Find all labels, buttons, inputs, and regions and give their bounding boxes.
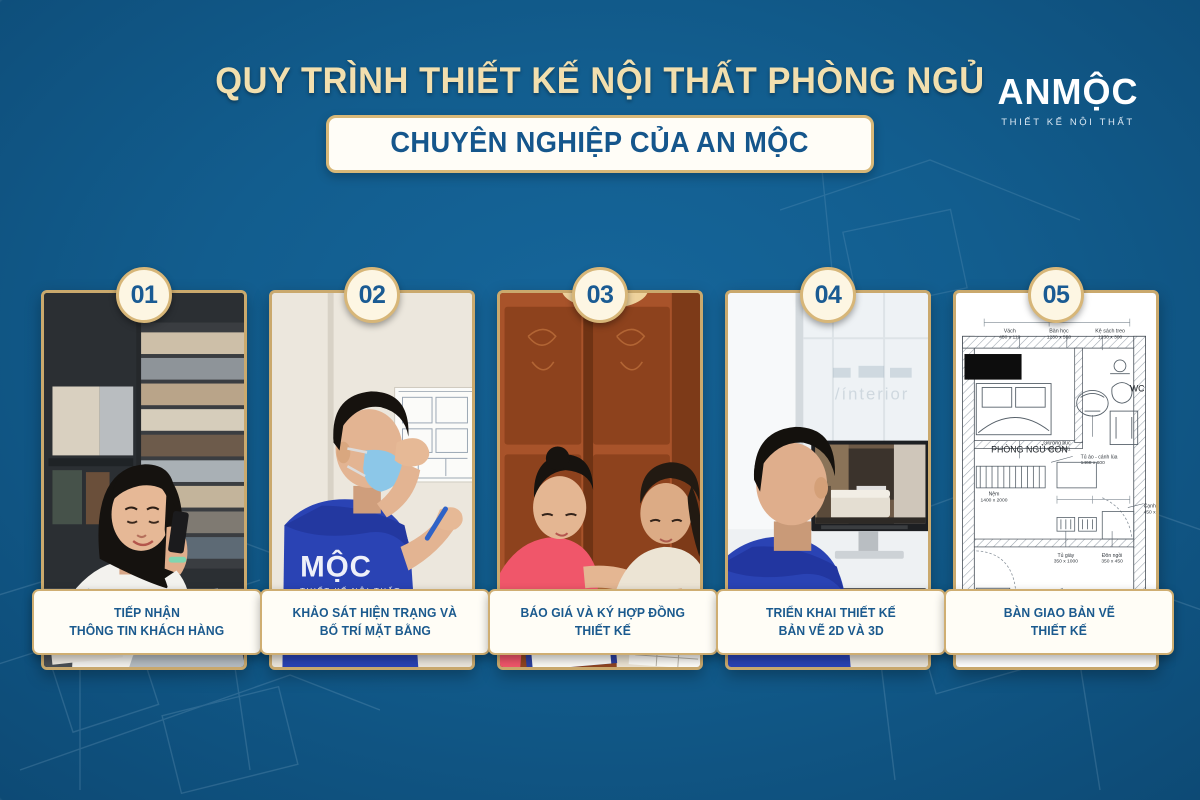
svg-text:1230 x 550: 1230 x 550 (1047, 334, 1072, 340)
logo-tagline: THIẾT KẾ NỘI THẤT (978, 117, 1158, 128)
caption-line-2: BẢN VẼ 2D VÀ 3D (778, 622, 883, 640)
step-card-03[interactable]: 03 BÁO GIÁ VÀ KÝ HỢP ĐỒNG THIẾT KẾ (497, 290, 703, 670)
caption-line-1: TRIỂN KHAI THIẾT KẾ (766, 604, 896, 622)
step-card-05[interactable]: Vách 450 x 110 Bàn học 1230 x 550 Kệ sác… (953, 290, 1159, 670)
svg-text:Đôn ngồi: Đôn ngồi (1102, 553, 1122, 559)
step-caption-03: BÁO GIÁ VÀ KÝ HỢP ĐỒNG THIẾT KẾ (488, 589, 718, 655)
step-caption-05: BÀN GIAO BẢN VẼ THIẾT KẾ (944, 589, 1174, 655)
step-number-05: 05 (1043, 281, 1070, 310)
step-card-04[interactable]: /ínterior (725, 290, 931, 670)
svg-text:Nệm: Nệm (989, 492, 1000, 498)
svg-text:Kệ sách treo: Kệ sách treo (1095, 328, 1125, 334)
svg-text:Vách: Vách (1004, 328, 1016, 334)
step-number-01: 01 (131, 281, 158, 310)
step-caption-01: TIẾP NHẬN THÔNG TIN KHÁCH HÀNG (32, 589, 262, 655)
svg-text:MỘC: MỘC (300, 549, 372, 583)
svg-text:1468 x 2781: 1468 x 2781 (1043, 446, 1070, 452)
svg-text:Cạnh: Cạnh (1144, 504, 1156, 510)
step-number-badge-02: 02 (344, 267, 400, 323)
svg-text:Tủ giày: Tủ giày (1057, 552, 1074, 559)
caption-line-2: THIẾT KẾ (575, 622, 631, 640)
svg-text:450 x 135: 450 x 135 (1144, 509, 1156, 515)
svg-text:/ínterior: /ínterior (835, 384, 909, 403)
step-number-badge-04: 04 (800, 267, 856, 323)
svg-text:1400 x 2000: 1400 x 2000 (980, 498, 1007, 504)
caption-line-1: BÀN GIAO BẢN VẼ (1003, 604, 1114, 622)
caption-line-2: BỐ TRÍ MẶT BẰNG (319, 622, 430, 640)
infographic-canvas: QUY TRÌNH THIẾT KẾ NỘI THẤT PHÒNG NGỦ CH… (0, 0, 1200, 800)
caption-line-1: BÁO GIÁ VÀ KÝ HỢP ĐỒNG (521, 604, 686, 622)
process-steps-row: 01 TIẾP NHẬN THÔNG TIN KHÁCH HÀNG (0, 290, 1200, 670)
caption-line-2: THÔNG TIN KHÁCH HÀNG (70, 622, 225, 640)
caption-line-2: THIẾT KẾ (1031, 622, 1087, 640)
svg-text:WC: WC (1130, 383, 1145, 393)
step-caption-02: KHẢO SÁT HIỆN TRẠNG VÀ BỐ TRÍ MẶT BẰNG (260, 589, 490, 655)
caption-line-1: TIẾP NHẬN (114, 604, 180, 622)
step-card-02[interactable]: MỘC THIẾT KẾ NỘI THẤT 02 KHẢO SÁT HIỆN T… (269, 290, 475, 670)
svg-text:Bàn học: Bàn học (1049, 328, 1069, 334)
brand-logo: ANMỘC THIẾT KẾ NỘI THẤT (978, 74, 1158, 128)
step-card-01[interactable]: 01 TIẾP NHẬN THÔNG TIN KHÁCH HÀNG (41, 290, 247, 670)
subtitle-box: CHUYÊN NGHIỆP CỦA AN MỘC (326, 115, 874, 173)
svg-text:1468 x 600: 1468 x 600 (1081, 460, 1106, 466)
svg-text:Giường bục: Giường bục (1043, 441, 1071, 447)
step-number-02: 02 (359, 281, 386, 310)
step-caption-04: TRIỂN KHAI THIẾT KẾ BẢN VẼ 2D VÀ 3D (716, 589, 946, 655)
page-subtitle: CHUYÊN NGHIỆP CỦA AN MỘC (391, 127, 809, 160)
svg-text:350 x 1000: 350 x 1000 (1054, 559, 1079, 565)
logo-wordmark: ANMỘC (978, 74, 1158, 110)
step-number-badge-03: 03 (572, 267, 628, 323)
caption-line-1: KHẢO SÁT HIỆN TRẠNG VÀ (293, 604, 457, 622)
svg-text:350 x 450: 350 x 450 (1101, 559, 1123, 565)
step-number-badge-01: 01 (116, 267, 172, 323)
svg-text:Tủ áo - cánh lùa: Tủ áo - cánh lùa (1081, 453, 1118, 460)
step-number-badge-05: 05 (1028, 267, 1084, 323)
step-number-04: 04 (815, 281, 842, 310)
svg-text:1230 x 300: 1230 x 300 (1098, 334, 1123, 340)
svg-text:450 x 110: 450 x 110 (999, 334, 1020, 340)
step-number-03: 03 (587, 281, 614, 310)
